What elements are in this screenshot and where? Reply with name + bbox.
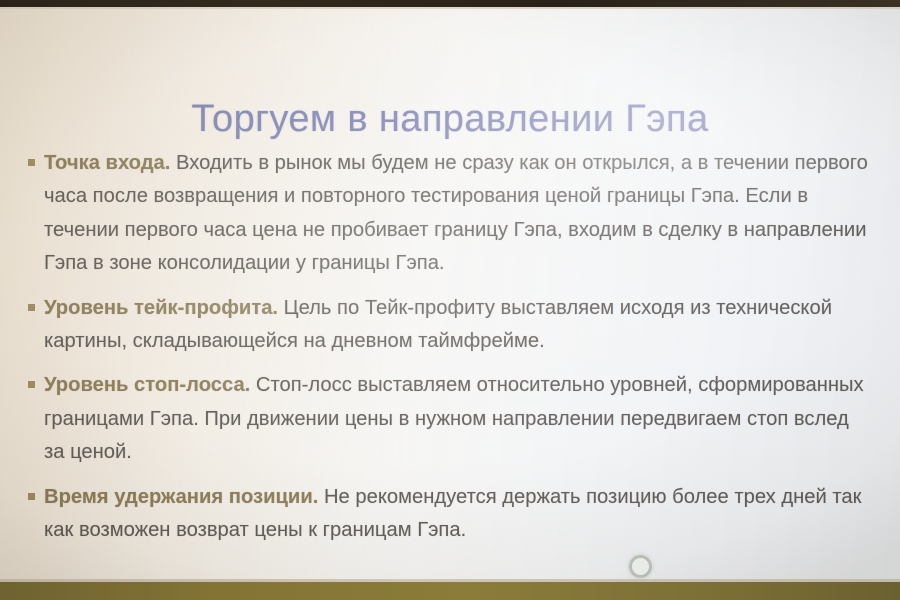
bullet-lead-in-stop-loss: Уровень стоп-лосса. [44,374,250,396]
slide-title: Торгуем в направлении Гэпа [0,98,900,141]
bullet-lead-in-entry-point: Точка входа. [44,152,170,174]
projection-screen-surface: Торгуем в направлении Гэпа Точка входа. … [0,7,900,583]
bullet-lead-in-holding-time: Время удержания позиции. [44,486,318,508]
screen-top-hairline [0,7,900,9]
projected-slide-photo: Торгуем в направлении Гэпа Точка входа. … [0,0,900,600]
bullet-lead-in-take-profit: Уровень тейк-профита. [44,297,278,319]
screen-bottom-bezel [0,582,900,600]
square-bullet-icon [28,304,35,311]
screen-top-bezel [0,0,900,7]
slide-bullet-list: Точка входа. Входить в рынок мы будем не… [26,147,874,558]
bullet-item-holding-time: Время удержания позиции. Не рекомендуетс… [26,481,874,548]
bullet-item-take-profit: Уровень тейк-профита. Цель по Тейк-профи… [26,292,874,359]
square-bullet-icon [28,493,35,500]
bullet-item-stop-loss: Уровень стоп-лосса. Стоп-лосс выставляем… [26,369,874,469]
square-bullet-icon [28,159,35,166]
lens-flare-dot-icon [629,555,652,578]
bullet-item-entry-point: Точка входа. Входить в рынок мы будем не… [26,147,874,281]
square-bullet-icon [28,381,35,388]
